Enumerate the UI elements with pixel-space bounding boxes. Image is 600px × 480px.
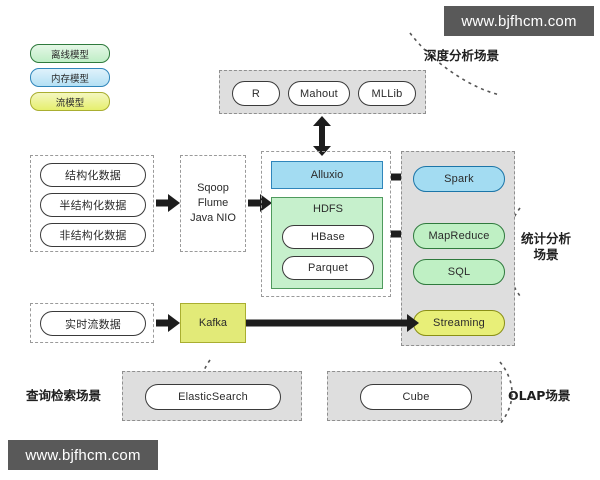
arrow-shaft xyxy=(319,125,325,147)
stream-source-panel: 实时流数据 xyxy=(30,303,154,343)
serving-elasticsearch[interactable]: ElasticSearch xyxy=(145,384,281,410)
arrow-head xyxy=(168,194,180,212)
compute-mapreduce[interactable]: MapReduce xyxy=(413,223,505,249)
legend-item-memory-model: 内存模型 xyxy=(30,68,110,87)
scene-label-query-retrieval: 查询检索场景 xyxy=(26,388,101,404)
diagram-canvas: 离线模型 内存模型 流模型 R Mahout MLLib 结构化数据 半结构化数… xyxy=(0,0,600,480)
analytics-layer-panel: R Mahout MLLib xyxy=(219,70,426,114)
storage-hbase[interactable]: HBase xyxy=(282,225,374,249)
compute-spark[interactable]: Spark xyxy=(413,166,505,192)
search-serving-panel: ElasticSearch xyxy=(122,371,302,421)
ingestion-panel[interactable]: Sqoop Flume Java NIO xyxy=(180,155,246,252)
olap-serving-panel: Cube xyxy=(327,371,502,421)
scene-label-olap: OLAP场景 xyxy=(508,388,570,404)
stream-source-realtime[interactable]: 实时流数据 xyxy=(40,311,146,336)
ingestion-tool-java-nio: Java NIO xyxy=(190,211,236,226)
data-source-unstructured[interactable]: 非结构化数据 xyxy=(40,223,146,247)
ingestion-tool-flume: Flume xyxy=(190,196,236,211)
scene-label-deep-analysis: 深度分析场景 xyxy=(424,48,499,64)
arrow-head xyxy=(407,314,419,332)
legend-item-stream-model: 流模型 xyxy=(30,92,110,111)
analytics-item-mahout[interactable]: Mahout xyxy=(288,81,350,106)
stream-broker-kafka[interactable]: Kafka xyxy=(180,303,246,343)
storage-alluxio[interactable]: Alluxio xyxy=(271,161,383,189)
watermark-top-right: www.bjfhcm.com xyxy=(444,6,594,36)
compute-sql[interactable]: SQL xyxy=(413,259,505,285)
scene-label-statistical-line1: 统计分析 xyxy=(521,231,571,247)
storage-parquet[interactable]: Parquet xyxy=(282,256,374,280)
ingestion-tool-sqoop: Sqoop xyxy=(190,181,236,196)
arrow-analytics-storage xyxy=(313,116,331,156)
analytics-item-mllib[interactable]: MLLib xyxy=(358,81,416,106)
serving-cube[interactable]: Cube xyxy=(360,384,472,410)
analytics-item-r[interactable]: R xyxy=(232,81,280,106)
storage-layer-panel: Alluxio HDFS HBase Parquet xyxy=(261,151,391,297)
scene-label-statistical-line2: 场景 xyxy=(521,247,571,263)
storage-hdfs-label: HDFS xyxy=(272,203,384,215)
data-source-semi-structured[interactable]: 半结构化数据 xyxy=(40,193,146,217)
legend-item-offline-model: 离线模型 xyxy=(30,44,110,63)
storage-hdfs[interactable]: HDFS HBase Parquet xyxy=(271,197,383,289)
data-source-structured[interactable]: 结构化数据 xyxy=(40,163,146,187)
compute-streaming[interactable]: Streaming xyxy=(413,310,505,336)
arrow-head xyxy=(168,314,180,332)
scene-label-statistical-analysis: 统计分析 场景 xyxy=(521,231,571,262)
data-sources-panel: 结构化数据 半结构化数据 非结构化数据 xyxy=(30,155,154,252)
arrow-shaft xyxy=(246,320,408,327)
watermark-bottom-left: www.bjfhcm.com xyxy=(8,440,158,470)
legend: 离线模型 内存模型 流模型 xyxy=(30,44,114,110)
